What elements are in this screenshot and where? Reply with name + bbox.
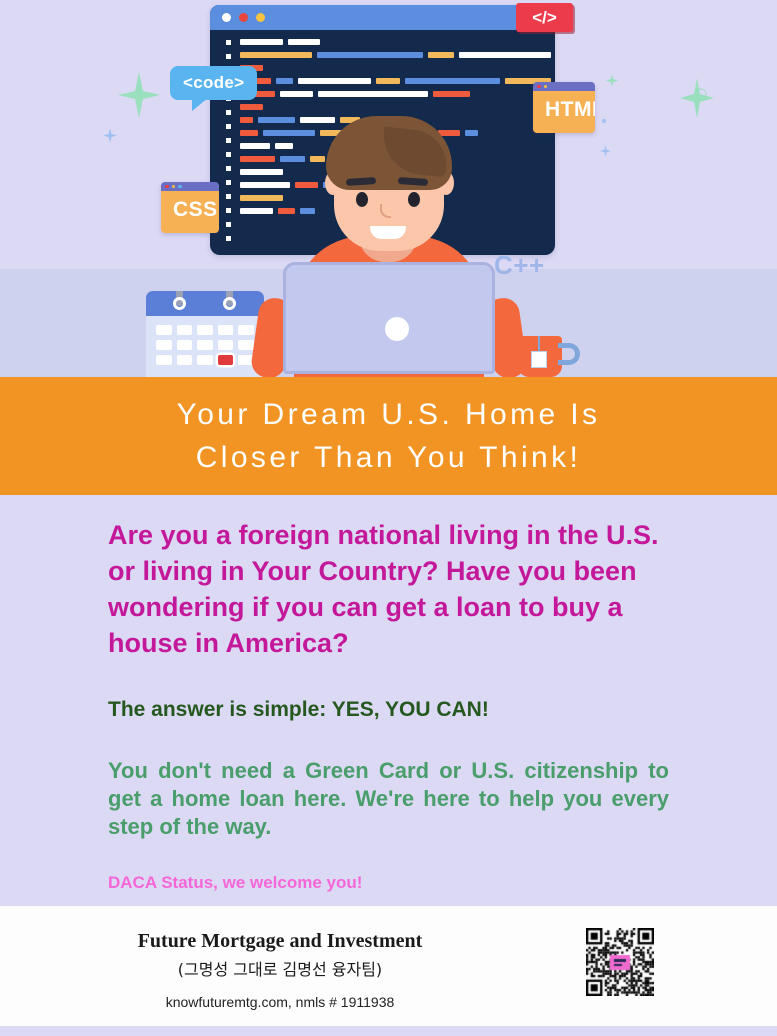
person-mouth: [370, 226, 406, 239]
gutter-mark: [226, 236, 231, 241]
code-line: [240, 38, 551, 45]
calendar-header: [146, 291, 264, 316]
html-card-titlebar: [533, 82, 595, 91]
css-card-label: CSS: [161, 191, 219, 233]
body-copy-section: Are you a foreign national living in the…: [0, 495, 777, 906]
headline-banner: Your Dream U.S. Home Is Closer Than You …: [0, 377, 777, 495]
sparkle-blue-tiny-icon: [600, 145, 611, 157]
calendar-icon: [146, 291, 264, 377]
sparkle-green-large-icon: [680, 78, 714, 118]
code-token: [240, 104, 263, 110]
code-token: [240, 39, 283, 45]
code-slash-badge: </>: [516, 3, 573, 32]
code-token: [240, 156, 275, 162]
calendar-marked-day: [218, 355, 234, 365]
hero-illustration: <code> CSS HTML </> C++: [0, 0, 777, 377]
answer-line: The answer is simple: YES, YOU CAN!: [108, 698, 669, 722]
code-token: [459, 52, 552, 58]
company-name-korean: (그명성 그대로 김명선 융자팀): [0, 956, 560, 980]
code-token: [240, 182, 290, 188]
gutter-mark: [226, 110, 231, 115]
tea-bag-tag: [531, 351, 547, 368]
sparkle-green-tiny-icon: [606, 74, 618, 87]
gutter-mark: [226, 40, 231, 45]
code-token: [376, 78, 400, 84]
editor-title-bar: [210, 5, 555, 30]
gutter-mark: [226, 138, 231, 143]
qr-code[interactable]: [586, 928, 654, 996]
code-token: [433, 91, 471, 97]
code-speech-bubble: <code>: [170, 66, 257, 100]
sparkle-blue-dot-icon: [600, 117, 608, 125]
code-token: [240, 195, 283, 201]
laptop-logo-icon: [385, 317, 409, 341]
code-line: [240, 90, 551, 97]
code-line: [240, 77, 551, 84]
code-token: [240, 52, 312, 58]
html-card: HTML: [533, 82, 595, 133]
sparkle-ring-icon: [695, 88, 707, 100]
gutter-mark: [226, 166, 231, 171]
gutter-mark: [226, 54, 231, 59]
daca-note: DACA Status, we welcome you!: [108, 873, 669, 893]
mug-handle: [558, 343, 580, 365]
code-line: [240, 64, 551, 71]
gutter-mark: [226, 194, 231, 199]
gutter-mark: [226, 124, 231, 129]
code-token: [288, 39, 321, 45]
red-dot-icon: [239, 13, 248, 22]
code-token: [240, 169, 283, 175]
calendar-ring-right: [226, 291, 233, 306]
gutter-mark: [226, 152, 231, 157]
code-token: [428, 52, 453, 58]
laptop-lid: [283, 262, 495, 374]
person-eye-right: [408, 192, 420, 207]
code-token: [298, 78, 371, 84]
css-card-titlebar: [161, 182, 219, 191]
gutter-mark: [226, 222, 231, 227]
gutter-mark: [226, 180, 231, 185]
contact-line: knowfuturemtg.com, nmls # 1911938: [0, 994, 560, 1010]
sparkle-blue-small-icon: [103, 128, 117, 143]
code-token: [405, 78, 500, 84]
bottom-strip: [0, 1026, 777, 1036]
css-card: CSS: [161, 182, 219, 233]
code-token: [317, 52, 423, 58]
cpp-label: C++: [494, 250, 545, 281]
footer-section: Future Mortgage and Investment (그명성 그대로 …: [0, 906, 777, 1026]
gutter-mark: [226, 208, 231, 213]
calendar-ring-left: [176, 291, 183, 306]
yellow-dot-icon: [256, 13, 265, 22]
code-line: [240, 51, 551, 58]
company-name: Future Mortgage and Investment: [0, 930, 560, 953]
code-token: [276, 78, 294, 84]
headline: Your Dream U.S. Home Is Closer Than You …: [177, 393, 601, 479]
html-card-label: HTML: [533, 91, 595, 133]
poster: <code> CSS HTML </> C++: [0, 0, 777, 1036]
code-token: [240, 208, 273, 214]
code-token: [280, 91, 313, 97]
sparkle-green-icon: [118, 72, 160, 118]
code-token: [240, 143, 270, 149]
calendar-grid: [146, 316, 264, 374]
tea-bag-string: [538, 336, 540, 352]
headline-line-1: Your Dream U.S. Home Is: [177, 398, 601, 431]
question-paragraph: Are you a foreign national living in the…: [108, 517, 669, 661]
code-token: [318, 91, 428, 97]
code-token: [240, 117, 253, 123]
code-token: [240, 130, 258, 136]
mug-icon: [518, 336, 562, 377]
headline-line-2: Closer Than You Think!: [196, 441, 582, 474]
white-dot-icon: [222, 13, 231, 22]
laptop-illustration: [277, 262, 501, 377]
person-eye-left: [356, 192, 368, 207]
explanation-paragraph: You don't need a Green Card or U.S. citi…: [108, 757, 669, 841]
